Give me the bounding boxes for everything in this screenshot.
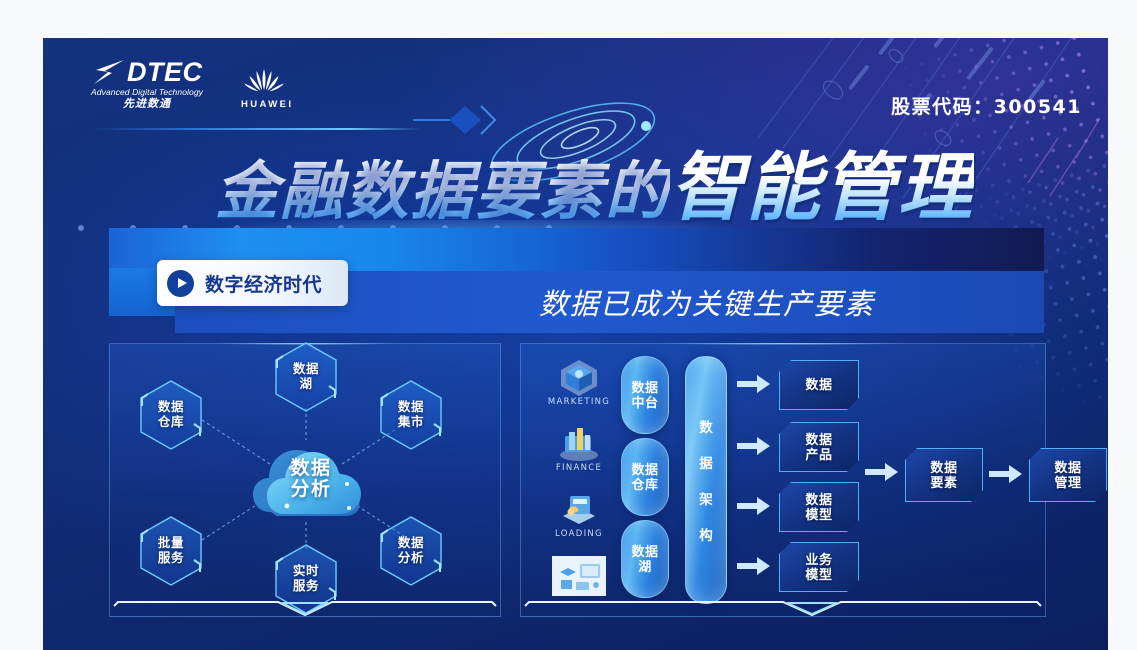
flow-arrow-icon bbox=[737, 436, 771, 456]
main-title-part-2: 智能管理 bbox=[670, 145, 974, 231]
section-band: 数字经济时代 数据已成为关键生产要素 bbox=[109, 228, 1044, 333]
final-box-data-governance[interactable]: 数据 管理 bbox=[1029, 448, 1107, 502]
huawei-wordmark: HUAWEI bbox=[241, 99, 293, 110]
final-box-data-element[interactable]: 数据 要素 bbox=[905, 448, 983, 502]
flow-arrow-icon bbox=[737, 496, 771, 516]
dtec-logo-mark: DTEC bbox=[91, 58, 203, 86]
source-caption: FINANCE bbox=[556, 463, 602, 473]
diamond-accent-icon bbox=[413, 100, 487, 140]
capsule-line1: 数据 bbox=[631, 544, 658, 559]
band-headline: 数据已成为关键生产要素 bbox=[539, 273, 875, 331]
node-line1: 数据 bbox=[158, 400, 184, 415]
final-line2: 要素 bbox=[930, 475, 957, 490]
node-line1: 数据 bbox=[398, 400, 424, 415]
source-item-marketing[interactable]: MARKETING bbox=[541, 358, 617, 420]
source-item-workstation[interactable] bbox=[541, 556, 617, 618]
source-caption: LOADING bbox=[555, 529, 603, 539]
node-line2: 湖 bbox=[299, 377, 312, 392]
source-item-loading[interactable]: LOADING bbox=[541, 490, 617, 552]
output-line1: 数据 bbox=[805, 492, 832, 507]
loading-server-icon bbox=[557, 490, 601, 528]
title-block: 金融数据要素的智能管理 bbox=[123, 142, 1083, 234]
node-line2: 分析 bbox=[398, 551, 424, 566]
cloud-center-label: 数据 分析 bbox=[253, 444, 369, 514]
capsule-line1: 数据 bbox=[631, 462, 658, 477]
logo-group: DTEC Advanced Digital Technology 先进数通 HU… bbox=[91, 58, 293, 110]
dtec-logo: DTEC Advanced Digital Technology 先进数通 bbox=[91, 58, 203, 110]
capsule-data-lake[interactable]: 数据 湖 bbox=[621, 520, 669, 598]
flow-arrow-icon bbox=[737, 556, 771, 576]
header-divider bbox=[91, 128, 421, 130]
source-item-finance[interactable]: FINANCE bbox=[541, 424, 617, 486]
output-box-data[interactable]: 数据 bbox=[779, 360, 859, 410]
finance-chart-icon bbox=[557, 424, 601, 462]
capsule-line2: 湖 bbox=[638, 559, 652, 574]
output-line1: 业务 bbox=[805, 552, 832, 567]
arch-char: 架 bbox=[699, 488, 713, 508]
section-badge-label: 数字经济时代 bbox=[205, 270, 322, 297]
flow-arrow-icon bbox=[737, 374, 771, 394]
panel-top-glow bbox=[615, 343, 950, 346]
node-line1: 批量 bbox=[158, 536, 184, 551]
output-box-business-model[interactable]: 业务 模型 bbox=[779, 542, 859, 592]
huawei-flower-icon bbox=[241, 65, 287, 97]
dtec-arrow-icon bbox=[91, 58, 125, 86]
output-box-data-product[interactable]: 数据 产品 bbox=[779, 422, 859, 472]
arch-char: 构 bbox=[699, 524, 713, 544]
dtec-wordmark: DTEC bbox=[127, 59, 203, 86]
dtec-tagline-cn: 先进数通 bbox=[91, 99, 203, 110]
workstation-icon bbox=[552, 556, 606, 596]
main-title-part-1: 金融数据要素的 bbox=[215, 155, 670, 228]
output-line2: 产品 bbox=[805, 447, 832, 462]
capsule-data-warehouse[interactable]: 数据 仓库 bbox=[621, 438, 669, 516]
capsule-data-midplatform[interactable]: 数据 中台 bbox=[621, 356, 669, 434]
huawei-logo: HUAWEI bbox=[241, 65, 293, 110]
final-line2: 管理 bbox=[1054, 475, 1081, 490]
node-line2: 集市 bbox=[398, 415, 424, 430]
marketing-cube-icon bbox=[557, 358, 601, 396]
flow-arrow-icon bbox=[865, 462, 899, 482]
architecture-column[interactable]: 数 据 架 构 bbox=[685, 356, 727, 604]
right-architecture-panel: MARKETING FINANCE bbox=[520, 343, 1046, 617]
node-line2: 仓库 bbox=[158, 415, 184, 430]
output-line1: 数据 bbox=[805, 432, 832, 447]
left-diagram-panel: 数据 仓库 数据 湖 数据 集市 批量 服务 bbox=[109, 343, 501, 617]
output-line1: 数据 bbox=[805, 377, 832, 392]
node-line2: 服务 bbox=[158, 551, 184, 566]
cloud-line1: 数据 bbox=[290, 458, 331, 479]
node-line2: 服务 bbox=[293, 579, 319, 594]
capsule-line1: 数据 bbox=[631, 380, 658, 395]
output-box-data-model[interactable]: 数据 模型 bbox=[779, 482, 859, 532]
arch-char: 据 bbox=[699, 452, 713, 472]
output-line2: 模型 bbox=[805, 507, 832, 522]
node-line1: 实时 bbox=[293, 564, 319, 579]
flow-arrow-icon bbox=[989, 464, 1023, 484]
main-title: 金融数据要素的智能管理 bbox=[215, 142, 974, 238]
arch-char: 数 bbox=[699, 416, 713, 436]
dtec-tagline-en: Advanced Digital Technology bbox=[91, 88, 203, 97]
capsule-line2: 仓库 bbox=[631, 477, 658, 492]
source-caption: MARKETING bbox=[548, 397, 610, 407]
cloud-line2: 分析 bbox=[290, 479, 331, 500]
final-line1: 数据 bbox=[1054, 460, 1081, 475]
section-badge[interactable]: 数字经济时代 bbox=[157, 260, 348, 306]
source-icon-column: MARKETING FINANCE bbox=[541, 358, 617, 622]
slide-canvas: DTEC Advanced Digital Technology 先进数通 HU… bbox=[43, 38, 1108, 650]
node-line1: 数据 bbox=[293, 362, 319, 377]
output-line2: 模型 bbox=[805, 567, 832, 582]
play-icon bbox=[167, 270, 194, 297]
stock-code-label: 股票代码：300541 bbox=[891, 92, 1082, 119]
final-line1: 数据 bbox=[930, 460, 957, 475]
capsule-line2: 中台 bbox=[631, 395, 658, 410]
node-line1: 数据 bbox=[398, 536, 424, 551]
